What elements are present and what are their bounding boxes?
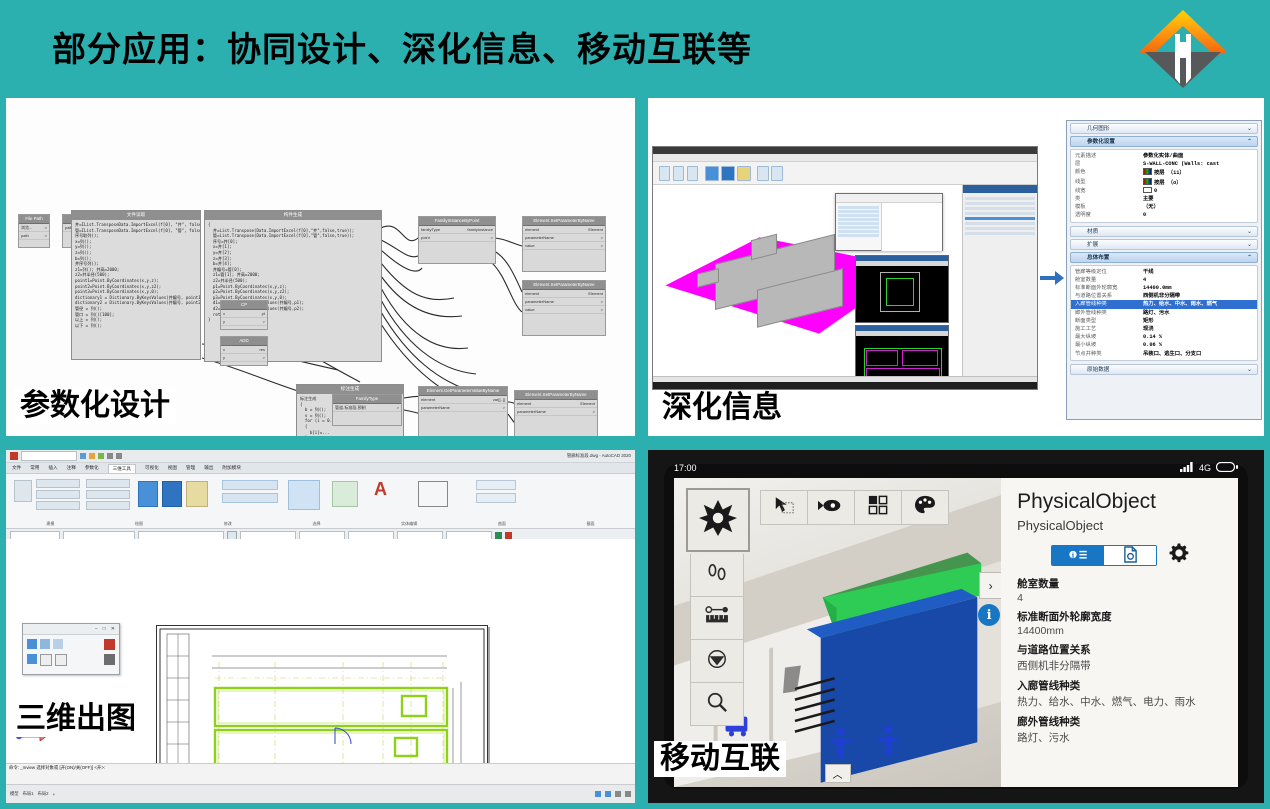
dynamo-port[interactable]: xpt	[221, 310, 267, 318]
palette-delete-icon[interactable]	[104, 639, 115, 650]
ribbon-tab[interactable]: 附加模块	[222, 465, 240, 471]
prop-row[interactable]: 类主要	[1071, 195, 1257, 203]
prop-section-raw-data[interactable]: 原始数据 ⌄	[1070, 364, 1258, 375]
dynamo-port[interactable]: xres	[221, 346, 267, 354]
attribute-key: 标准断面外轮廓宽度	[1017, 609, 1224, 624]
prop-row[interactable]: 节点井种类吊装口、逃生口、分支口	[1071, 350, 1257, 358]
maximize-icon[interactable]: □	[103, 626, 106, 632]
attribute-key: 舱室数量	[1017, 576, 1224, 591]
status-network: 4G	[1199, 463, 1211, 473]
attribute-list: 舱室数量 4 标准断面外轮廓宽度 14400mm 与道路位置关系 西侧机非分隔带…	[1017, 576, 1224, 745]
autocad-app-icon[interactable]	[10, 452, 18, 460]
ribbon-button-sweep[interactable]	[186, 481, 208, 507]
dynamo-port[interactable]: value>	[523, 242, 605, 250]
prop-section-label: 材质	[1087, 229, 1098, 235]
zoom-icon	[706, 691, 728, 718]
close-icon[interactable]: ✕	[111, 626, 115, 632]
prop-section-label: 参数化设置	[1087, 139, 1115, 145]
dynamo-node-title: 构件生成	[205, 211, 381, 220]
flow-arrow-icon	[1040, 271, 1064, 285]
prop-row[interactable]: 层S-WALL-CONC (Walls: cast	[1071, 160, 1257, 168]
color-swatch-icon	[1143, 168, 1152, 175]
windows-taskbar[interactable]	[653, 382, 1037, 389]
dynamo-port[interactable]: point>	[419, 234, 495, 242]
status-tab-layout2[interactable]: 布局2	[38, 791, 49, 797]
dynamo-node-title: FamilyInstanceByPoint	[419, 217, 495, 226]
dynamo-port[interactable]: y>	[221, 318, 267, 326]
ribbon-tab[interactable]: 文件	[12, 465, 21, 471]
palette-icon[interactable]	[53, 639, 63, 649]
prop-section-material[interactable]: 材质 ⌄	[1070, 226, 1258, 237]
ribbon-tab[interactable]: 输出	[204, 465, 213, 471]
dynamo-port[interactable]: elementvar[]..[]	[419, 396, 507, 404]
ribbon-group-modeling[interactable]	[36, 479, 80, 509]
dynamo-node-title: CP	[221, 301, 267, 310]
collapse-toolbar-button[interactable]: ︿	[825, 764, 851, 783]
prop-row[interactable]: 廊外管线种类路灯、污水	[1071, 309, 1257, 317]
dynamo-node-add[interactable]: ADD xres y>	[220, 336, 268, 366]
ribbon-tab[interactable]: 管理	[186, 465, 195, 471]
bim-application-window[interactable]	[652, 146, 1038, 390]
attribute-key: 入廊管线种类	[1017, 678, 1224, 693]
prop-row[interactable]: 颜色按层 （11）	[1071, 168, 1257, 177]
ribbon-group-boolean[interactable]	[222, 480, 278, 508]
status-time: 17:00	[674, 463, 697, 473]
zoom-tool-button[interactable]	[690, 683, 744, 726]
floating-palette[interactable]: − □ ✕	[22, 623, 120, 675]
ribbon-button-edit-solid[interactable]	[332, 481, 358, 507]
dynamo-node-setparam-3[interactable]: Element.SetParameterByName elementElemen…	[514, 390, 598, 436]
ribbon-tab-active[interactable]: 三维工具	[108, 464, 136, 473]
prop-row[interactable]: 最大纵坡0.14 %	[1071, 333, 1257, 341]
page-header: 部分应用：协同设计、深化信息、移动互联等	[0, 0, 1270, 96]
dynamo-code-text: 井=IList.TransposeData.ImportExcel(f[0], …	[72, 220, 200, 330]
attribute-value: 14400mm	[1017, 625, 1224, 637]
prop-section-label: 几何图形	[1087, 126, 1109, 132]
panel-3d-drawing-output: 管廊标准段.dwg - AutoCAD 2020 文件 常用 插入 注释 参数化…	[6, 450, 635, 803]
select-tool-button[interactable]	[760, 490, 808, 525]
bim-ribbon-icon[interactable]	[687, 166, 698, 181]
dynamo-port[interactable]: elementElement	[523, 226, 605, 234]
palette-titlebar[interactable]: − □ ✕	[23, 624, 119, 635]
dynamo-port[interactable]: 浏览...>	[19, 224, 49, 232]
prop-row[interactable]: 线型按层 （o）	[1071, 178, 1257, 187]
dialog-titlebar[interactable]	[836, 194, 942, 203]
prop-row-selected[interactable]: 入廊管线种类热力、给水、中水、雨水、燃气	[1071, 300, 1257, 308]
attribute-value: 4	[1017, 592, 1224, 604]
prop-row[interactable]: 元素描述参数化实体/曲面	[1071, 152, 1257, 160]
section-tool-button[interactable]	[690, 640, 744, 683]
architectural-plan: 中央平面图 1:20	[157, 626, 487, 763]
dynamo-node-title: File Path	[19, 215, 49, 224]
palette-icon[interactable]	[40, 639, 50, 649]
chevron-down-icon: ⌄	[1247, 227, 1252, 238]
tablet-top-toolbar[interactable]	[760, 490, 949, 525]
orbit-icon	[699, 499, 737, 542]
paint-tool-button[interactable]	[902, 490, 949, 525]
dynamo-port[interactable]: parameterName>	[523, 298, 605, 306]
info-icon: i	[987, 608, 992, 623]
autocad-window[interactable]: 管廊标准段.dwg - AutoCAD 2020 文件 常用 插入 注释 参数化…	[6, 450, 635, 803]
autocad-ribbon[interactable]: A 建模 绘图 修改 选择 实体编辑 曲面 截面	[6, 474, 635, 529]
ribbon-button-dimension[interactable]	[418, 481, 448, 507]
tablet-status-bar: 17:00 4G	[674, 460, 1238, 476]
ribbon-tab[interactable]: 可视化	[145, 465, 159, 471]
autocad-ribbon-tabs[interactable]: 文件 常用 插入 注释 参数化 三维工具 可视化 视图 管理 输出 附加模块	[6, 463, 635, 474]
autocad-status-bar[interactable]: 模型 布局1 布局2 +	[6, 784, 635, 803]
chevron-up-icon: ︿	[833, 766, 843, 781]
ribbon-button-section[interactable]	[288, 480, 320, 510]
ribbon-tab[interactable]: 插入	[48, 465, 57, 471]
drawing-sheet[interactable]: 中央平面图 1:20	[156, 625, 488, 763]
ribbon-tab[interactable]: 注释	[67, 465, 76, 471]
prop-row[interactable]: 施工工艺现浇	[1071, 325, 1257, 333]
info-badge[interactable]: i	[978, 604, 1000, 626]
tab-documents[interactable]	[1104, 546, 1156, 565]
ribbon-group-label: 实体编辑	[401, 521, 417, 527]
ribbon-tab[interactable]: 视图	[168, 465, 177, 471]
ribbon-button-extrude[interactable]	[162, 481, 182, 507]
dynamo-port[interactable]: parameterName>	[515, 408, 597, 416]
bim-ribbon-icon[interactable]	[771, 166, 783, 181]
status-tab-add[interactable]: +	[53, 792, 56, 797]
info-list-icon: i	[1069, 549, 1088, 563]
autocad-window-title: 管廊标准段.dwg - AutoCAD 2020	[567, 453, 631, 459]
hide-icon	[818, 498, 844, 518]
hide-tool-button[interactable]	[808, 490, 855, 525]
prop-section-overall-layout[interactable]: 总体布置 ⌃	[1070, 252, 1258, 263]
palette-settings-icon[interactable]	[104, 654, 115, 665]
dynamo-codeblock-read[interactable]: 文件读取 井=IList.TransposeData.ImportExcel(f…	[71, 210, 201, 360]
dynamo-node-familytype[interactable]: FamilyType 管道-标准段-预制>	[332, 394, 402, 426]
status-tab-layout1[interactable]: 布局1	[23, 791, 34, 797]
signal-icon	[1180, 462, 1194, 474]
prop-row[interactable]: 线宽0	[1071, 187, 1257, 195]
panel-parametric-design: File Path 浏览...> path> File.FromPath pat…	[6, 98, 635, 436]
prop-row[interactable]: 透明度0	[1071, 211, 1257, 219]
autocad-quick-access-toolbar[interactable]: 管廊标准段.dwg - AutoCAD 2020	[6, 450, 635, 463]
dynamo-port[interactable]: familyTypefamilyInstance	[419, 226, 495, 234]
battery-icon	[1216, 462, 1238, 474]
prop-section-parametric[interactable]: 参数化设置 ⌃	[1070, 136, 1258, 147]
ribbon-group-label: 曲面	[498, 521, 506, 527]
segmented-control[interactable]: i	[1051, 545, 1157, 566]
caption-parametric-design: 参数化设计	[14, 388, 176, 424]
linetype-swatch-icon	[1143, 178, 1152, 185]
tablet-left-toolbar[interactable]	[690, 554, 742, 726]
bim-cad-view-upper[interactable]	[855, 255, 949, 323]
prop-table-parametric: 元素描述参数化实体/曲面 层S-WALL-CONC (Walls: cast 颜…	[1070, 149, 1258, 223]
ribbon-group-view[interactable]	[476, 480, 516, 508]
chevron-right-icon: ›	[989, 579, 993, 593]
prop-row[interactable]: 标准断面外轮廓宽14400.0mm	[1071, 284, 1257, 292]
dynamo-node-title: 文件读取	[72, 211, 200, 220]
attribute-key: 与道路位置关系	[1017, 642, 1224, 657]
caption-detailed-information: 深化信息	[656, 390, 788, 426]
ribbon-group-label: 绘图	[135, 521, 143, 527]
ortho-icon[interactable]	[615, 791, 621, 797]
dynamo-port[interactable]: path>	[19, 232, 49, 240]
bim-ribbon-icon[interactable]	[705, 166, 719, 181]
document-icon	[1123, 546, 1138, 566]
prop-section-label: 扩展	[1087, 242, 1098, 248]
tab-properties[interactable]: i	[1052, 546, 1104, 565]
palette-add-icon[interactable]	[40, 654, 52, 666]
walk-tool-button[interactable]	[690, 554, 744, 597]
measure-tool-button[interactable]	[690, 597, 744, 640]
minimize-icon[interactable]: −	[95, 626, 98, 632]
prop-section-label: 原始数据	[1087, 367, 1109, 373]
prop-section-label: 总体布置	[1087, 255, 1109, 261]
bim-titlebar	[653, 147, 1037, 154]
caption-3d-drawing-output: 三维出图	[10, 701, 142, 737]
chevron-up-icon: ⌃	[1247, 253, 1252, 264]
lineweight-swatch-icon	[1143, 187, 1152, 193]
ribbon-button-text[interactable]: A	[374, 479, 387, 500]
prop-row[interactable]: 最小纵坡0.06 %	[1071, 341, 1257, 349]
object-info-panel[interactable]: PhysicalObject PhysicalObject i	[1001, 478, 1238, 787]
ribbon-group-label: 建模	[46, 521, 54, 527]
chevron-down-icon: ⌄	[1247, 240, 1252, 251]
bim-ribbon-icon[interactable]	[659, 166, 670, 181]
command-prompt-text: 命令: _mview 选择对象或 [开(ON)/关(OFF)] <开>:	[9, 765, 632, 771]
attribute-value: 热力、给水、中水、燃气、电力、雨水	[1017, 694, 1224, 709]
print-icon[interactable]	[98, 453, 104, 459]
bim-ribbon-icon[interactable]	[673, 166, 684, 181]
undo-icon[interactable]	[107, 453, 113, 459]
snap-icon[interactable]	[595, 791, 601, 797]
dynamo-node-title: 标注生成	[297, 385, 403, 394]
company-logo	[1137, 8, 1229, 90]
attribute-value: 西侧机非分隔带	[1017, 658, 1224, 673]
bim-ribbon[interactable]	[653, 154, 1037, 185]
dynamo-node-setparam-2[interactable]: Element.SetParameterByName elementElemen…	[522, 280, 606, 336]
attribute-key: 廊外管线种类	[1017, 714, 1224, 729]
ribbon-button-box[interactable]	[138, 481, 158, 507]
dynamo-port[interactable]: 管道-标准段-预制>	[333, 404, 401, 412]
bim-right-palette[interactable]	[962, 185, 1037, 377]
dynamo-node-familyinstance[interactable]: FamilyInstanceByPoint familyTypefamilyIn…	[418, 216, 496, 264]
save-icon[interactable]	[80, 453, 86, 459]
open-icon[interactable]	[89, 453, 95, 459]
attribute-value: 路灯、污水	[1017, 730, 1224, 745]
measure-icon	[704, 606, 730, 631]
prop-row[interactable]: 与道路位置关系西侧机非分隔带	[1071, 292, 1257, 300]
object-title: PhysicalObject	[1017, 490, 1224, 514]
dynamo-node-title: Element.GetParameterValueByName	[419, 387, 507, 396]
bim-ribbon-icon[interactable]	[721, 166, 735, 181]
prop-section-extension[interactable]: 扩展 ⌄	[1070, 239, 1258, 250]
info-tabs[interactable]: i	[1051, 543, 1224, 568]
cad-toolbar[interactable]	[856, 331, 948, 336]
section-icon	[706, 648, 728, 675]
dynamo-node-cp[interactable]: CP xpt y>	[220, 300, 268, 330]
select-icon	[773, 496, 795, 520]
chevron-down-icon: ⌄	[1247, 124, 1252, 135]
page-title: 部分应用：协同设计、深化信息、移动互联等	[52, 22, 752, 71]
properties-palette[interactable]: 几何图形 ⌄ 参数化设置 ⌃ 元素描述参数化实体/曲面 层S-WALL-CONC…	[1066, 120, 1262, 420]
dynamo-port[interactable]: y>	[221, 354, 267, 362]
dynamo-node-title: Element.SetParameterByName	[523, 281, 605, 290]
prop-table-layout: 管廊等级定位干线 舱室数量4 标准断面外轮廓宽14400.0mm 与道路位置关系…	[1070, 265, 1258, 361]
ribbon-tab[interactable]: 参数化	[85, 465, 99, 471]
object-subtitle: PhysicalObject	[1017, 518, 1224, 533]
caption-mobile-internet: 移动互联	[654, 741, 786, 777]
dynamo-node-title: ADD	[221, 337, 267, 346]
ribbon-group-label: 修改	[224, 521, 232, 527]
polar-icon[interactable]	[625, 791, 631, 797]
grid-icon[interactable]	[605, 791, 611, 797]
bim-ribbon-icon[interactable]	[737, 166, 751, 181]
layer-tools-icon[interactable]	[495, 532, 502, 539]
orbit-tool-button[interactable]	[686, 488, 750, 552]
dynamo-node-getparam[interactable]: Element.GetParameterValueByName elementv…	[418, 386, 508, 436]
paint-icon	[914, 495, 936, 520]
palette-remove-icon[interactable]	[55, 654, 67, 666]
autocad-workspace-select[interactable]	[21, 451, 77, 461]
settings-gear-icon[interactable]	[1169, 543, 1189, 568]
redo-icon[interactable]	[116, 453, 122, 459]
prop-row[interactable]: 管廊等级定位干线	[1071, 268, 1257, 276]
dynamo-node-title: Element.SetParameterByName	[523, 217, 605, 226]
chevron-up-icon: ⌃	[1247, 137, 1252, 148]
ribbon-group-label: 选择	[312, 521, 320, 527]
dynamo-node-title: FamilyType	[333, 395, 401, 404]
isolate-tool-button[interactable]	[855, 490, 902, 525]
dynamo-port[interactable]: parameterName>	[419, 404, 507, 412]
cad-toolbar[interactable]	[856, 261, 948, 266]
dynamo-canvas[interactable]: File Path 浏览...> path> File.FromPath pat…	[6, 98, 635, 436]
prop-section-geometry[interactable]: 几何图形 ⌄	[1070, 123, 1258, 134]
dynamo-port[interactable]: parameterName>	[523, 234, 605, 242]
bim-ribbon-tabs[interactable]	[653, 154, 1037, 162]
ribbon-group-modify[interactable]	[86, 479, 130, 509]
walk-icon	[705, 563, 729, 588]
dynamo-node-title: Element.SetParameterByName	[515, 391, 597, 400]
dynamo-node-setparam-1[interactable]: Element.SetParameterByName elementElemen…	[522, 216, 606, 272]
palette-icon[interactable]	[27, 639, 37, 649]
prop-row[interactable]: 模板（无）	[1071, 203, 1257, 211]
panel-detailed-information: 几何图形 ⌄ 参数化设置 ⌃ 元素描述参数化实体/曲面 层S-WALL-CONC…	[648, 98, 1264, 436]
ribbon-tab[interactable]: 常用	[30, 465, 39, 471]
ribbon-group-label: 截面	[587, 521, 595, 527]
prop-row[interactable]: 断面类型矩形	[1071, 317, 1257, 325]
palette-icon[interactable]	[27, 654, 37, 664]
bim-open-file-dialog[interactable]	[835, 193, 943, 251]
autocad-command-line[interactable]: 命令: _mview 选择对象或 [开(ON)/关(OFF)] <开>:	[6, 763, 635, 785]
dynamo-port[interactable]: elementElement	[523, 290, 605, 298]
next-panel-button[interactable]: ›	[979, 572, 1001, 599]
chevron-down-icon: ⌄	[1247, 365, 1252, 376]
ribbon-button-select[interactable]	[14, 480, 32, 502]
status-tab-model[interactable]: 模型	[10, 791, 19, 797]
dynamo-port[interactable]: value>	[523, 306, 605, 314]
panel-mobile-internet: 17:00 4G	[648, 450, 1264, 803]
dynamo-port[interactable]: elementElement	[515, 400, 597, 408]
layer-match-icon[interactable]	[505, 532, 512, 539]
prop-row[interactable]: 舱室数量4	[1071, 276, 1257, 284]
dynamo-node-filepath[interactable]: File Path 浏览...> path>	[18, 214, 50, 248]
isolate-icon	[868, 495, 888, 520]
bim-ribbon-icon[interactable]	[757, 166, 769, 181]
